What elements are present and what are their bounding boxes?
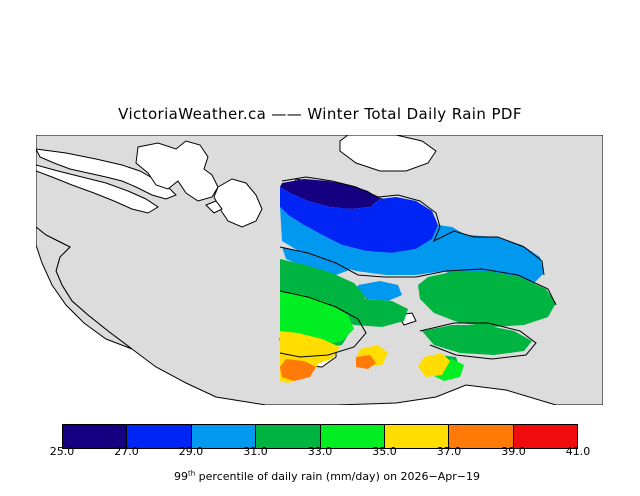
colorbar-caption: 99th percentile of daily rain (mm/day) o…	[0, 457, 640, 496]
weather-map-figure: VictoriaWeather.ca —— Winter Total Daily…	[0, 0, 640, 480]
map-svg[interactable]	[36, 135, 603, 405]
map-panel[interactable]	[36, 135, 603, 405]
page-title: VictoriaWeather.ca —— Winter Total Daily…	[0, 105, 640, 123]
caption-prefix: 99	[174, 470, 188, 483]
caption-suffix: percentile of daily rain (mm/day) on 202…	[195, 470, 480, 483]
